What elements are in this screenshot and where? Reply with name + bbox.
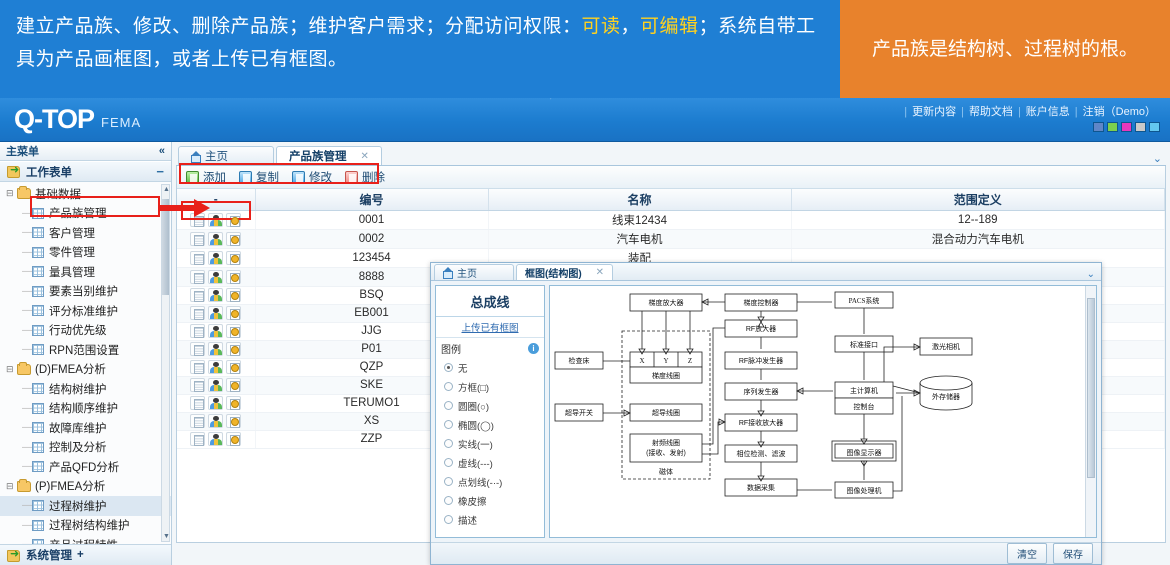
sidebar-title-bar: 主菜单 « — [0, 142, 171, 161]
legend-section-header: 图例 i — [436, 338, 544, 358]
worksheet-folder-icon — [7, 165, 21, 178]
row-actions[interactable] — [177, 394, 255, 412]
svg-text:PACS系统: PACS系统 — [849, 296, 880, 305]
legend-option-8[interactable]: 描述 — [436, 510, 544, 529]
svg-text:外存储器: 外存储器 — [932, 392, 960, 401]
blue-banner-highlight-readable: 可读 — [582, 16, 621, 37]
sidebar-item-label: 控制及分析 — [49, 439, 107, 455]
popup-tabbar-chevron-icon[interactable]: ⌄ — [1087, 269, 1098, 280]
link-sep-3: | — [1070, 106, 1083, 118]
document-key-icon[interactable] — [226, 360, 241, 374]
sidebar-item-label: 评分标准维护 — [49, 303, 118, 319]
popup-tab-1[interactable]: 框图(结构图)✕ — [516, 264, 613, 280]
link-sep-0: | — [899, 106, 912, 118]
grid-icon — [32, 461, 44, 472]
toolbar-button-label: 修改 — [309, 169, 332, 185]
tree-connector: — — [22, 403, 32, 414]
sidebar-bottom-label: 系统管理 — [26, 547, 72, 563]
document-key-icon[interactable] — [226, 432, 241, 446]
annotation-banner-row: 建立产品族、修改、删除产品族；维护客户需求；分配访问权限：可读，可编辑；系统自带… — [0, 0, 1170, 98]
header-links: |更新内容|帮助文档|账户信息|注销（Demo） — [899, 103, 1156, 119]
tree-connector: — — [22, 500, 32, 511]
popup-tab-close-icon[interactable]: ✕ — [586, 267, 604, 278]
svg-text:检查床: 检查床 — [569, 356, 590, 365]
sidebar-item-5[interactable]: —要素当别维护 — [0, 282, 171, 302]
home-icon — [443, 268, 453, 277]
grid-icon — [32, 539, 44, 544]
users-icon[interactable] — [208, 360, 223, 374]
sidebar-group-label: 工作表单 — [26, 164, 72, 180]
legend-option-label: 无 — [458, 361, 468, 375]
row-actions[interactable] — [177, 267, 255, 286]
document-key-icon[interactable] — [226, 270, 241, 284]
toolbar-button-label: 复制 — [256, 169, 279, 185]
legend-option-label: 方框(□) — [458, 380, 489, 394]
table-row[interactable]: 0001线束1243412--189 — [177, 210, 1165, 229]
sidebar-item-15[interactable]: ⊟(P)FMEA分析 — [0, 477, 171, 497]
sidebar-item-2[interactable]: —客户管理 — [0, 223, 171, 243]
tree-expander-icon[interactable]: ⊟ — [6, 481, 17, 492]
grid-icon — [32, 208, 44, 219]
document-key-icon[interactable] — [226, 414, 241, 428]
sidebar-bottom-toggle[interactable]: + — [77, 549, 84, 561]
users-icon[interactable] — [208, 396, 223, 410]
svg-text:RF放大器: RF放大器 — [746, 324, 776, 333]
sidebar-item-label: 故障库维护 — [49, 420, 107, 436]
document-icon[interactable] — [190, 342, 205, 356]
legend-option-5[interactable]: 虚线(---) — [436, 453, 544, 472]
legend-option-label: 橡皮擦 — [458, 494, 487, 508]
sidebar-item-6[interactable]: —评分标准维护 — [0, 301, 171, 321]
popup-tab-label: 框图(结构图) — [525, 265, 582, 280]
popup-footer: 清空保存 — [431, 542, 1101, 564]
frame-diagram-popup: 主页框图(结构图)✕⌄ 总成线 上传已有框图 图例 i 无方框(□)圆圈(○)椭… — [430, 262, 1102, 565]
upload-existing-diagram-link[interactable]: 上传已有框图 — [436, 317, 544, 338]
users-icon[interactable] — [208, 414, 223, 428]
home-icon — [191, 152, 201, 161]
mri-block-diagram: 检查床 超导开关 梯度放大器 X Y Z 梯度线圈 超导线圈 射频线圈 (接收、… — [550, 286, 1090, 536]
document-key-icon[interactable] — [226, 232, 241, 246]
document-key-icon[interactable] — [226, 288, 241, 302]
legend-option-label: 椭圆(◯) — [458, 418, 494, 432]
document-key-icon[interactable] — [226, 396, 241, 410]
sidebar-item-label: 产品过程特性 — [49, 537, 118, 544]
document-key-icon[interactable] — [226, 251, 241, 265]
toolbar-button-1[interactable]: 复制 — [236, 168, 286, 186]
radio-icon[interactable] — [444, 401, 453, 410]
toolbar-icon-1 — [239, 171, 252, 184]
sidebar-item-label: 量具管理 — [49, 264, 95, 280]
blue-banner-highlight-editable: 可编辑 — [640, 16, 699, 37]
cell-scope: 混合动力汽车电机 — [791, 229, 1165, 248]
cell-code: 0002 — [255, 229, 488, 248]
tree-connector: — — [22, 461, 32, 472]
legend-section-label: 图例 — [441, 341, 461, 356]
cell-name: 汽车电机 — [488, 229, 791, 248]
svg-text:Z: Z — [688, 357, 692, 365]
svg-text:梯度控制器: 梯度控制器 — [744, 298, 779, 307]
grid-icon — [32, 383, 44, 394]
row-actions[interactable] — [177, 358, 255, 376]
svg-text:梯度放大器: 梯度放大器 — [649, 298, 684, 307]
svg-text:激光相机: 激光相机 — [932, 342, 960, 351]
sidebar-item-17[interactable]: —过程树结构维护 — [0, 516, 171, 536]
tree-connector: — — [22, 247, 32, 258]
sidebar-scrollbar[interactable]: ▲ ▼ — [161, 184, 170, 542]
row-actions[interactable] — [177, 376, 255, 394]
sidebar-item-label: 过程树维护 — [49, 498, 107, 514]
legend-title: 总成线 — [436, 286, 544, 317]
sidebar-item-label: 要素当别维护 — [49, 283, 118, 299]
document-icon[interactable] — [190, 378, 205, 392]
legend-option-label: 实线(一) — [458, 437, 493, 451]
tree-connector: — — [22, 325, 32, 336]
link-help-doc[interactable]: 帮助文档 — [969, 106, 1013, 118]
cell-name: 线束12434 — [488, 210, 791, 229]
svg-text:Y: Y — [663, 357, 668, 365]
link-sep-1: | — [956, 106, 969, 118]
app-header: Q-TOP FEMA |更新内容|帮助文档|账户信息|注销（Demo） — [0, 98, 1170, 142]
grid-icon — [32, 266, 44, 277]
tree-connector: — — [22, 266, 32, 277]
sidebar-item-4[interactable]: —量具管理 — [0, 262, 171, 282]
row-actions[interactable] — [177, 229, 255, 248]
theme-swatches[interactable] — [1093, 122, 1160, 132]
sidebar-item-label: 客户管理 — [49, 225, 95, 241]
sidebar-item-0[interactable]: ⊟基础数据 — [0, 184, 171, 204]
radio-icon[interactable] — [444, 515, 453, 524]
legend-option-label: 点划线(-·-) — [458, 475, 502, 489]
svg-text:相位检测、滤波: 相位检测、滤波 — [737, 449, 786, 458]
sidebar-item-label: 结构树维护 — [49, 381, 107, 397]
tree-connector: — — [22, 344, 32, 355]
grid-column-header-1[interactable]: 编号 — [255, 189, 488, 210]
row-actions[interactable] — [177, 340, 255, 358]
document-icon[interactable] — [190, 306, 205, 320]
folder-icon — [17, 481, 31, 492]
link-logout[interactable]: 注销（Demo） — [1083, 106, 1156, 118]
document-key-icon[interactable] — [226, 324, 241, 338]
radio-icon[interactable] — [444, 439, 453, 448]
grid-icon — [32, 325, 44, 336]
tree-expander-icon[interactable]: ⊟ — [6, 188, 17, 199]
sidebar-collapse-icon[interactable]: « — [159, 145, 165, 157]
popup-tabbar: 主页框图(结构图)✕⌄ — [431, 263, 1101, 281]
toolbar-button-label: 删除 — [362, 169, 385, 185]
sidebar-item-label: 产品族管理 — [49, 205, 107, 221]
sidebar-item-18[interactable]: —产品过程特性 — [0, 535, 171, 544]
app-logo: Q-TOP FEMA — [14, 104, 141, 134]
sidebar-group-worksheet[interactable]: 工作表单 − — [0, 161, 171, 182]
popup-tab-label: 主页 — [457, 265, 477, 280]
scroll-up-arrow[interactable]: ▲ — [163, 186, 170, 193]
legend-option-1[interactable]: 方框(□) — [436, 377, 544, 396]
svg-text:超导开关: 超导开关 — [565, 408, 593, 417]
swatch-blue[interactable] — [1093, 122, 1104, 132]
scroll-thumb[interactable] — [162, 199, 169, 295]
document-icon[interactable] — [190, 414, 205, 428]
svg-text:射频线圈: 射频线圈 — [652, 438, 680, 447]
users-icon[interactable] — [208, 232, 223, 246]
document-icon[interactable] — [190, 324, 205, 338]
legend-option-0[interactable]: 无 — [436, 358, 544, 377]
document-key-icon[interactable] — [226, 306, 241, 320]
tree-connector: — — [22, 442, 32, 453]
document-icon[interactable] — [190, 360, 205, 374]
sidebar-tree: ▲ ▼ ⊟基础数据—产品族管理—客户管理—零件管理—量具管理—要素当别维护—评分… — [0, 182, 171, 544]
svg-text:RF脉冲发生器: RF脉冲发生器 — [739, 356, 783, 365]
svg-text:图像显示器: 图像显示器 — [847, 448, 882, 457]
radio-icon[interactable] — [444, 458, 453, 467]
cell-code: 0001 — [255, 210, 488, 229]
sidebar-item-10[interactable]: —结构树维护 — [0, 379, 171, 399]
main-tabbar: 主页产品族管理✕⌄ — [176, 145, 1166, 166]
document-icon[interactable] — [190, 270, 205, 284]
row-actions[interactable] — [177, 322, 255, 340]
document-key-icon[interactable] — [226, 378, 241, 392]
document-key-icon[interactable] — [226, 342, 241, 356]
users-icon[interactable] — [208, 213, 223, 227]
tree-connector: — — [22, 383, 32, 394]
scroll-down-arrow[interactable]: ▼ — [163, 533, 170, 540]
sidebar-item-label: 产品QFD分析 — [49, 459, 119, 475]
svg-text:RF接收放大器: RF接收放大器 — [739, 418, 783, 427]
legend-option-label: 虚线(---) — [458, 456, 493, 470]
users-icon[interactable] — [208, 251, 223, 265]
toolbar-button-label: 添加 — [203, 169, 226, 185]
grid-icon — [32, 247, 44, 258]
diagram-canvas[interactable]: 检查床 超导开关 梯度放大器 X Y Z 梯度线圈 超导线圈 射频线圈 (接收、… — [549, 285, 1097, 538]
tree-connector: — — [22, 422, 32, 433]
radio-icon[interactable] — [444, 382, 453, 391]
svg-text:主计算机: 主计算机 — [850, 386, 878, 395]
folder-icon — [17, 188, 31, 199]
document-icon[interactable] — [190, 288, 205, 302]
legend-panel: 总成线 上传已有框图 图例 i 无方框(□)圆圈(○)椭圆(◯)实线(一)虚线(… — [435, 285, 545, 538]
radio-icon[interactable] — [444, 363, 453, 372]
folder-icon — [17, 364, 31, 375]
document-icon[interactable] — [190, 213, 205, 227]
sidebar-item-label: 行动优先级 — [49, 322, 107, 338]
canvas-scroll-thumb[interactable] — [1087, 298, 1095, 478]
tree-connector: — — [22, 520, 32, 531]
sidebar: 主菜单 « 工作表单 − ▲ ▼ ⊟基础数据—产品族管理—客户管理—零件管理—量… — [0, 142, 172, 565]
grid-icon — [32, 305, 44, 316]
users-icon[interactable] — [208, 324, 223, 338]
toolbar-icon-0 — [186, 171, 199, 184]
svg-text:数据采集: 数据采集 — [747, 483, 775, 492]
document-icon[interactable] — [190, 432, 205, 446]
legend-option-6[interactable]: 点划线(-·-) — [436, 472, 544, 491]
sidebar-item-16[interactable]: —过程树维护 — [0, 496, 171, 516]
tab-label: 产品族管理 — [289, 148, 347, 164]
users-icon[interactable] — [208, 432, 223, 446]
row-actions[interactable] — [177, 286, 255, 304]
canvas-vertical-scrollbar[interactable] — [1085, 286, 1096, 537]
sidebar-item-1[interactable]: —产品族管理 — [0, 204, 171, 224]
svg-text:(接收、发射): (接收、发射) — [646, 448, 686, 457]
blue-banner-text-part1: 建立产品族、修改、删除产品族；维护客户需求；分配访问权限： — [16, 16, 582, 37]
logo-subtitle: FEMA — [101, 115, 141, 134]
radio-icon[interactable] — [444, 496, 453, 505]
toolbar-button-0[interactable]: 添加 — [183, 168, 233, 186]
document-key-icon[interactable] — [226, 213, 241, 227]
sidebar-item-label: 过程树结构维护 — [49, 517, 130, 533]
sidebar-item-label: 结构顺序维护 — [49, 400, 118, 416]
sidebar-item-8[interactable]: —RPN范围设置 — [0, 340, 171, 360]
tab-0[interactable]: 主页 — [178, 146, 274, 165]
popup-footer-button-1[interactable]: 保存 — [1053, 543, 1093, 564]
sidebar-item-label: (D)FMEA分析 — [35, 361, 106, 377]
link-sep-2: | — [1013, 106, 1026, 118]
row-actions[interactable] — [177, 412, 255, 430]
sidebar-item-label: (P)FMEA分析 — [35, 478, 105, 494]
swatch-cyan[interactable] — [1149, 122, 1160, 132]
svg-text:超导线圈: 超导线圈 — [652, 408, 680, 417]
radio-icon[interactable] — [444, 477, 453, 486]
legend-option-list: 无方框(□)圆圈(○)椭圆(◯)实线(一)虚线(---)点划线(-·-)橡皮擦描… — [436, 358, 544, 529]
sidebar-title: 主菜单 — [6, 143, 39, 159]
document-icon[interactable] — [190, 232, 205, 246]
table-row[interactable]: 0002汽车电机混合动力汽车电机 — [177, 229, 1165, 248]
legend-option-3[interactable]: 椭圆(◯) — [436, 415, 544, 434]
legend-option-label: 描述 — [458, 513, 477, 527]
swatch-grey[interactable] — [1135, 122, 1146, 132]
tree-connector: — — [22, 208, 32, 219]
svg-text:梯度线圈: 梯度线圈 — [652, 371, 680, 380]
tab-close-icon[interactable]: ✕ — [351, 151, 369, 162]
legend-option-label: 圆圈(○) — [458, 399, 489, 413]
row-actions[interactable] — [177, 304, 255, 322]
tab-1[interactable]: 产品族管理✕ — [276, 146, 382, 165]
sidebar-group-toggle[interactable]: − — [156, 164, 164, 179]
sidebar-item-label: 零件管理 — [49, 244, 95, 260]
blue-banner-comma: ， — [621, 16, 641, 37]
grid-icon — [32, 520, 44, 531]
row-actions[interactable] — [177, 248, 255, 267]
sidebar-item-13[interactable]: —控制及分析 — [0, 438, 171, 458]
tabbar-chevron-icon[interactable]: ⌄ — [1153, 152, 1166, 165]
legend-option-2[interactable]: 圆圈(○) — [436, 396, 544, 415]
sidebar-item-12[interactable]: —故障库维护 — [0, 418, 171, 438]
grid-icon — [32, 227, 44, 238]
popup-footer-button-0[interactable]: 清空 — [1007, 543, 1047, 564]
grid-column-header-2[interactable]: 名称 — [488, 189, 791, 210]
grid-toolbar: 添加复制修改删除 — [177, 166, 1165, 189]
svg-text:控制台: 控制台 — [854, 402, 875, 411]
grid-icon — [32, 422, 44, 433]
document-icon[interactable] — [190, 396, 205, 410]
grid-icon — [32, 286, 44, 297]
grid-icon — [32, 403, 44, 414]
popup-body: 总成线 上传已有框图 图例 i 无方框(□)圆圈(○)椭圆(◯)实线(一)虚线(… — [431, 281, 1101, 542]
grid-column-header-3[interactable]: 范围定义 — [791, 189, 1165, 210]
info-icon[interactable]: i — [528, 343, 539, 354]
tree-connector: — — [22, 539, 32, 544]
orange-annotation-banner: 产品族是结构树、过程树的根。 — [840, 0, 1170, 98]
legend-option-7[interactable]: 橡皮擦 — [436, 491, 544, 510]
sidebar-item-3[interactable]: —零件管理 — [0, 243, 171, 263]
swatch-magenta[interactable] — [1121, 122, 1132, 132]
tree-connector: — — [22, 286, 32, 297]
tab-label: 主页 — [205, 148, 228, 164]
svg-text:标准接口: 标准接口 — [850, 340, 878, 349]
svg-text:磁体: 磁体 — [659, 467, 673, 476]
grid-icon — [32, 344, 44, 355]
grid-column-header-0[interactable]: - — [177, 189, 255, 210]
sidebar-group-system[interactable]: 系统管理 + — [0, 544, 171, 565]
popup-tab-0[interactable]: 主页 — [434, 264, 514, 280]
users-icon[interactable] — [208, 270, 223, 284]
document-icon[interactable] — [190, 251, 205, 265]
row-actions[interactable] — [177, 210, 255, 229]
link-update-content[interactable]: 更新内容 — [912, 106, 956, 118]
cell-scope: 12--189 — [791, 210, 1165, 229]
toolbar-button-2[interactable]: 修改 — [289, 168, 339, 186]
tree-connector: — — [22, 227, 32, 238]
grid-icon — [32, 442, 44, 453]
logo-text: Q-TOP — [14, 104, 94, 134]
radio-icon[interactable] — [444, 420, 453, 429]
tree-expander-icon[interactable]: ⊟ — [6, 364, 17, 375]
tree-connector: — — [22, 305, 32, 316]
legend-option-4[interactable]: 实线(一) — [436, 434, 544, 453]
toolbar-icon-3 — [345, 171, 358, 184]
grid-header-row: -编号名称范围定义 — [177, 189, 1165, 210]
sidebar-item-label: RPN范围设置 — [49, 342, 119, 358]
system-folder-icon — [7, 549, 21, 562]
svg-text:序列发生器: 序列发生器 — [744, 387, 779, 396]
toolbar-button-3[interactable]: 删除 — [342, 168, 392, 186]
blue-annotation-banner: 建立产品族、修改、删除产品族；维护客户需求；分配访问权限：可读，可编辑；系统自带… — [0, 0, 840, 98]
users-icon[interactable] — [208, 378, 223, 392]
grid-icon — [32, 500, 44, 511]
svg-text:图像处理机: 图像处理机 — [847, 486, 882, 495]
sidebar-item-7[interactable]: —行动优先级 — [0, 321, 171, 341]
users-icon[interactable] — [208, 288, 223, 302]
sidebar-item-label: 基础数据 — [35, 186, 81, 202]
sidebar-item-9[interactable]: ⊟(D)FMEA分析 — [0, 360, 171, 380]
toolbar-icon-2 — [292, 171, 305, 184]
link-account-info[interactable]: 账户信息 — [1026, 106, 1070, 118]
sidebar-item-11[interactable]: —结构顺序维护 — [0, 399, 171, 419]
users-icon[interactable] — [208, 342, 223, 356]
svg-text:X: X — [639, 357, 644, 365]
sidebar-item-14[interactable]: —产品QFD分析 — [0, 457, 171, 477]
swatch-green[interactable] — [1107, 122, 1118, 132]
row-actions[interactable] — [177, 430, 255, 448]
users-icon[interactable] — [208, 306, 223, 320]
